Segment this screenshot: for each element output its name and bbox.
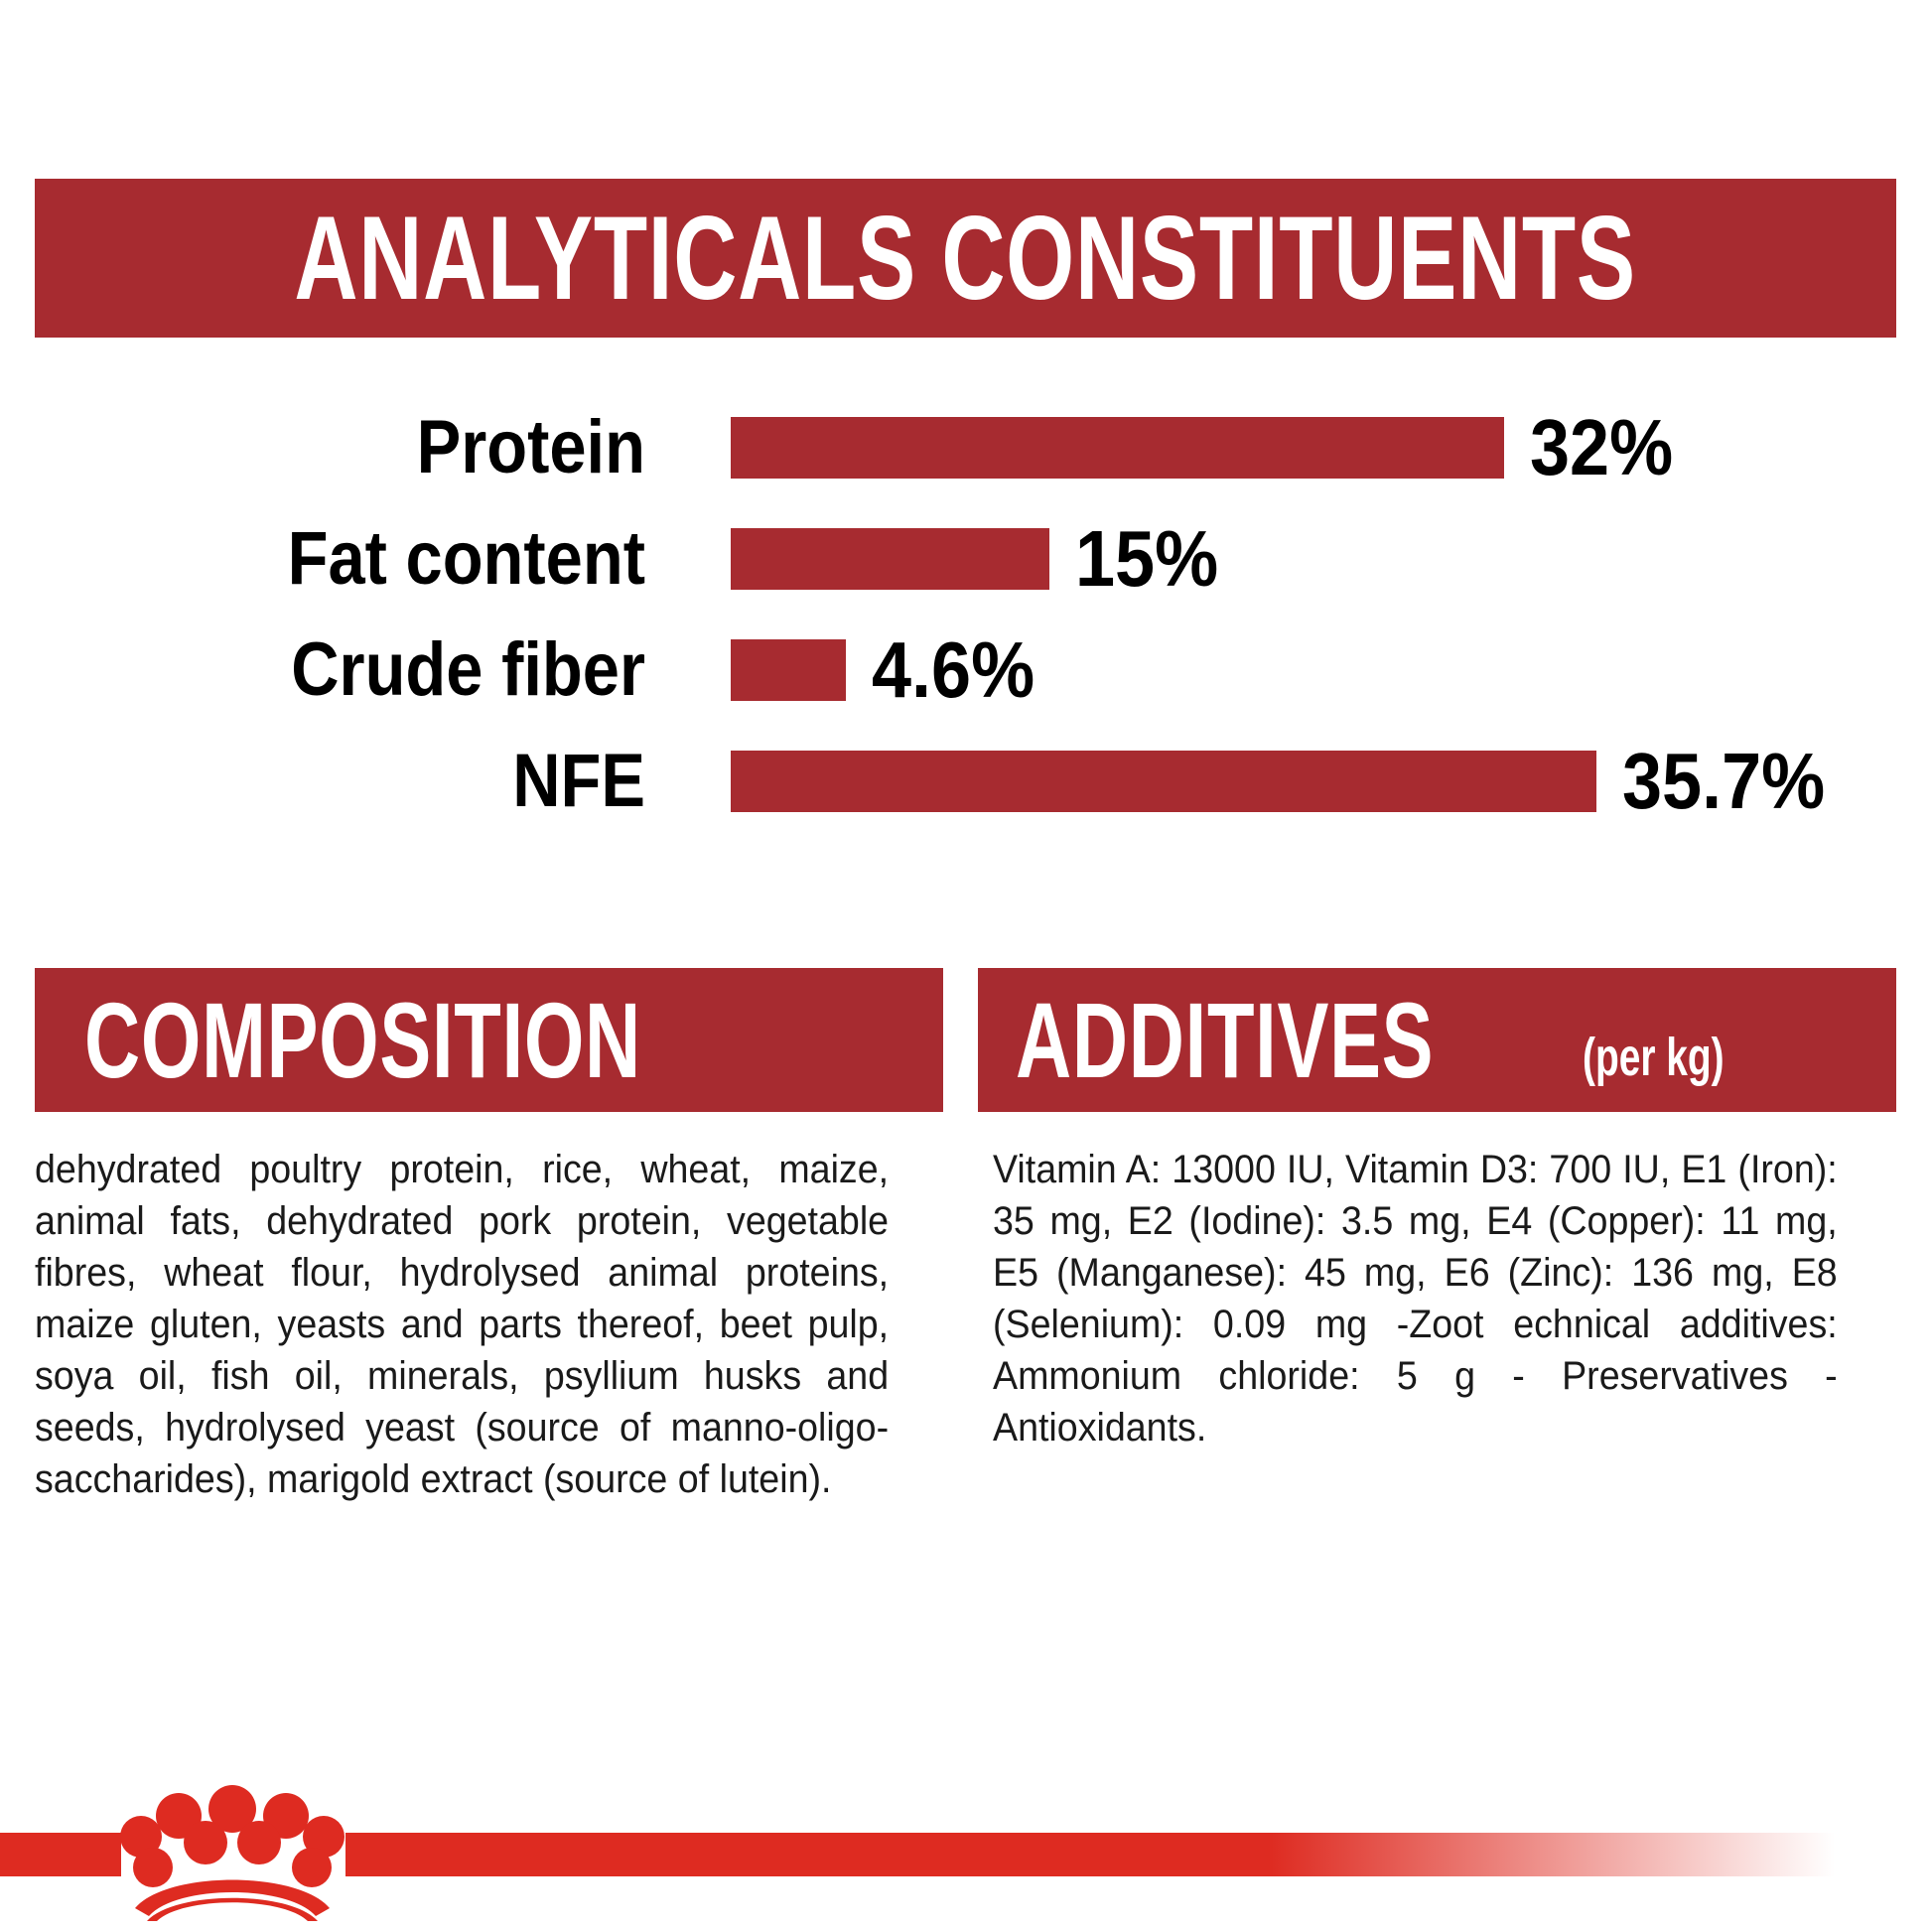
- chart-row-protein: Protein 32%: [0, 392, 1932, 503]
- page-title: ANALYTICALS CONSTITUENTS: [295, 199, 1636, 318]
- bar-fill-nfe: [731, 751, 1596, 812]
- additives-heading: ADDITIVES: [1016, 987, 1434, 1094]
- bar-value-crude-fiber: 4.6%: [872, 630, 1035, 710]
- composition-body-text: dehydrated poultry protein, rice, wheat,…: [35, 1144, 889, 1505]
- composition-banner: COMPOSITION: [35, 968, 943, 1112]
- bar-label-nfe: NFE: [77, 744, 645, 819]
- bar-track-fat-content: 15%: [731, 503, 1234, 615]
- footer-bar-right: [345, 1833, 1835, 1876]
- bar-value-nfe: 35.7%: [1622, 742, 1825, 821]
- footer-bar-left: [0, 1833, 121, 1876]
- additives-body-text: Vitamin A: 13000 IU, Vitamin D3: 700 IU,…: [993, 1144, 1838, 1453]
- analyticals-bar-chart: Protein 32% Fat content 15% Crude fiber …: [0, 392, 1932, 889]
- bar-fill-crude-fiber: [731, 639, 846, 701]
- chart-row-crude-fiber: Crude fiber 4.6%: [0, 615, 1932, 726]
- chart-row-fat-content: Fat content 15%: [0, 503, 1932, 615]
- bar-label-crude-fiber: Crude fiber: [77, 632, 645, 708]
- bar-track-crude-fiber: 4.6%: [731, 615, 1052, 726]
- additives-banner: ADDITIVES (per kg): [978, 968, 1896, 1112]
- bar-value-protein: 32%: [1530, 408, 1673, 487]
- bar-track-protein: 32%: [731, 392, 1689, 503]
- additives-heading-suffix: (per kg): [1583, 1031, 1725, 1084]
- footer: [0, 1809, 1932, 1932]
- bar-label-protein: Protein: [77, 410, 645, 485]
- bar-label-fat-content: Fat content: [77, 521, 645, 597]
- chart-row-nfe: NFE 35.7%: [0, 726, 1932, 837]
- bar-fill-fat-content: [731, 528, 1049, 590]
- bar-track-nfe: 35.7%: [731, 726, 1848, 837]
- royal-canin-crown-logo: [117, 1775, 347, 1922]
- bar-value-fat-content: 15%: [1075, 519, 1218, 599]
- composition-heading: COMPOSITION: [84, 987, 641, 1094]
- analyticals-constituents-banner: ANALYTICALS CONSTITUENTS: [35, 179, 1896, 338]
- bar-fill-protein: [731, 417, 1504, 479]
